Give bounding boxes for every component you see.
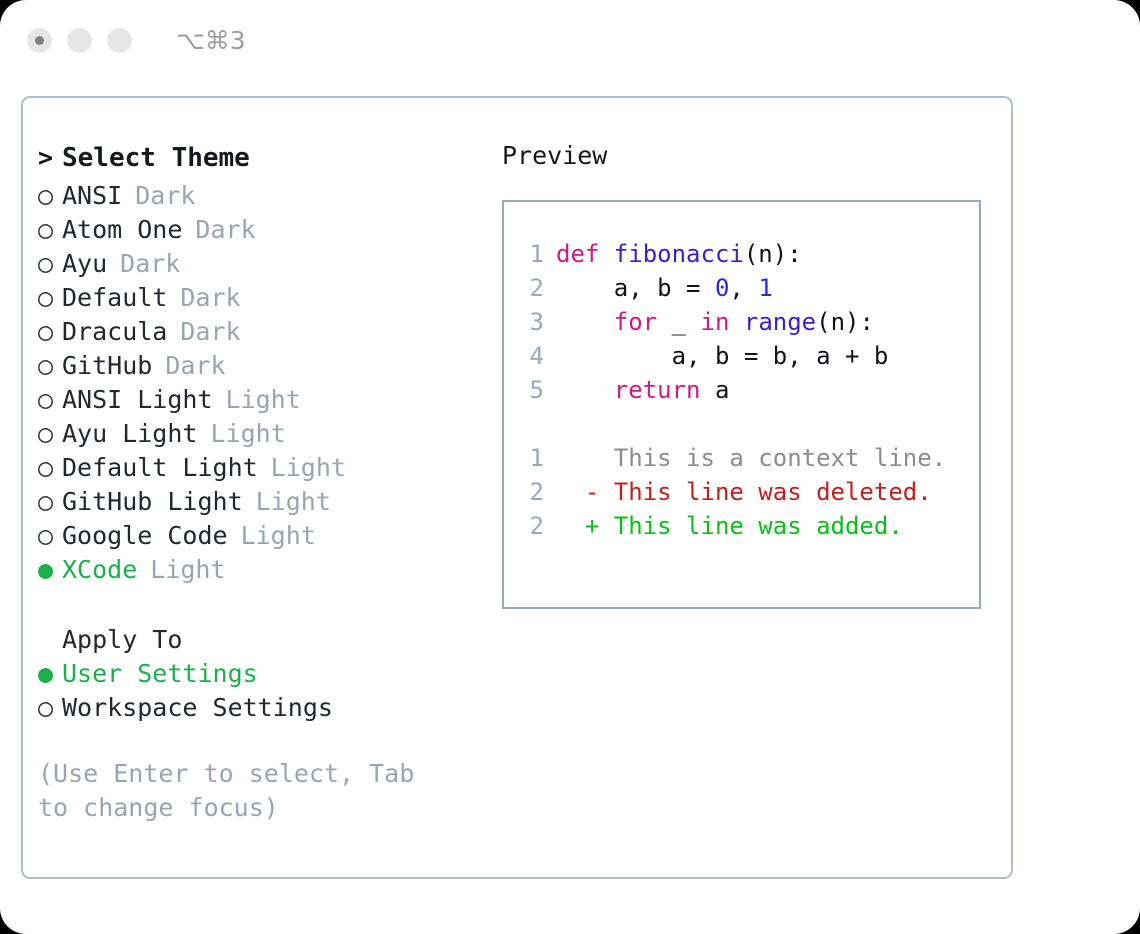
diff-line-number: 2 [518, 478, 544, 506]
code-line-content: for _ in range(n): [556, 308, 874, 336]
diff-line: 2 + This line was added. [518, 512, 979, 546]
app-window: ⌥⌘3 > Select Theme ○ANSIDark○Atom OneDar… [0, 0, 1140, 934]
code-line-number: 1 [518, 240, 544, 268]
preview-title: Preview [502, 141, 992, 179]
code-token-txt: a, b = [556, 274, 715, 302]
code-token-fn: range [744, 308, 816, 336]
radio-unselected-icon[interactable]: ○ [38, 485, 62, 519]
diff-line: 1 This is a context line. [518, 444, 979, 478]
code-line-content: a, b = b, a + b [556, 342, 888, 370]
theme-name-label: GitHub [62, 351, 152, 380]
code-token-txt: a, b = b, a + b [556, 342, 888, 370]
window-dot-2[interactable] [67, 28, 92, 53]
apply-to-heading: Apply To [38, 623, 478, 657]
radio-unselected-icon[interactable]: ○ [38, 281, 62, 315]
apply-to-item[interactable]: ○Workspace Settings [38, 691, 478, 725]
preview-box: 1def fibonacci(n):2 a, b = 0, 13 for _ i… [502, 200, 981, 609]
theme-name-label: Ayu [62, 249, 107, 278]
active-indicator-dot [35, 36, 44, 45]
code-line: 4 a, b = b, a + b [518, 342, 979, 376]
apply-to-section: Apply To ●User Settings○Workspace Settin… [38, 623, 478, 725]
code-line-content: return a [556, 376, 729, 404]
select-theme-heading-label: Select Theme [62, 143, 250, 173]
diff-line-text: This line was deleted. [614, 478, 932, 506]
apply-to-label: Workspace Settings [62, 693, 333, 722]
apply-to-item[interactable]: ●User Settings [38, 657, 478, 691]
main-panel: > Select Theme ○ANSIDark○Atom OneDark○Ay… [21, 96, 1013, 879]
code-line: 3 for _ in range(n): [518, 308, 979, 342]
code-token-txt [556, 376, 614, 404]
code-line-number: 4 [518, 342, 544, 370]
code-line-content: a, b = 0, 1 [556, 274, 773, 302]
radio-unselected-icon[interactable]: ○ [38, 691, 62, 725]
diff-marker-del: - [556, 478, 614, 506]
radio-unselected-icon[interactable]: ○ [38, 247, 62, 281]
theme-variant-badge: Light [256, 487, 331, 516]
theme-list-item[interactable]: ○GitHubDark [38, 349, 478, 383]
theme-variant-badge: Light [226, 385, 301, 414]
theme-name-label: Default [62, 283, 167, 312]
code-token-txt: (n): [816, 308, 874, 336]
radio-unselected-icon[interactable]: ○ [38, 213, 62, 247]
theme-name-label: Atom One [62, 215, 182, 244]
code-line: 2 a, b = 0, 1 [518, 274, 979, 308]
code-token-txt: a [701, 376, 730, 404]
code-token-txt: _ [657, 308, 700, 336]
theme-list-item[interactable]: ○ANSIDark [38, 179, 478, 213]
theme-list-item[interactable]: ●XCodeLight [38, 553, 478, 587]
theme-variant-badge: Dark [165, 351, 225, 380]
window-dot-active[interactable] [27, 28, 52, 53]
theme-list-item[interactable]: ○DraculaDark [38, 315, 478, 349]
code-line-number: 5 [518, 376, 544, 404]
keyboard-shortcut-label: ⌥⌘3 [176, 26, 246, 55]
theme-variant-badge: Light [210, 419, 285, 448]
theme-list-item[interactable]: ○Ayu LightLight [38, 417, 478, 451]
diff-line-number: 1 [518, 444, 544, 472]
code-token-txt [729, 308, 743, 336]
preview-spacer [518, 410, 979, 444]
apply-to-heading-label: Apply To [62, 625, 182, 654]
diff-line-text: This line was added. [614, 512, 903, 540]
theme-list-item[interactable]: ○Google CodeLight [38, 519, 478, 553]
theme-list: ○ANSIDark○Atom OneDark○AyuDark○DefaultDa… [38, 179, 478, 587]
preview-column: Preview 1def fibonacci(n):2 a, b = 0, 13… [502, 141, 992, 609]
code-token-txt [556, 308, 614, 336]
radio-unselected-icon[interactable]: ○ [38, 383, 62, 417]
code-line-content: def fibonacci(n): [556, 240, 802, 268]
diff-marker-ctx [556, 444, 614, 472]
theme-variant-badge: Dark [135, 181, 195, 210]
apply-to-list: ●User Settings○Workspace Settings [38, 657, 478, 725]
code-token-kw: in [701, 308, 730, 336]
select-theme-heading: > Select Theme [38, 141, 478, 179]
diff-line-number: 2 [518, 512, 544, 540]
title-bar: ⌥⌘3 [0, 0, 1140, 80]
radio-selected-icon[interactable]: ● [38, 553, 62, 587]
code-token-num: 0 [715, 274, 729, 302]
cursor-marker-icon: > [38, 141, 62, 175]
code-sample: 1def fibonacci(n):2 a, b = 0, 13 for _ i… [518, 240, 979, 410]
theme-list-item[interactable]: ○GitHub LightLight [38, 485, 478, 519]
theme-name-label: XCode [62, 555, 137, 584]
theme-list-item[interactable]: ○DefaultDark [38, 281, 478, 315]
theme-name-label: Ayu Light [62, 419, 197, 448]
theme-name-label: Default Light [62, 453, 258, 482]
code-token-kw: def [556, 240, 614, 268]
code-token-kw: return [614, 376, 701, 404]
theme-variant-badge: Light [271, 453, 346, 482]
code-line: 5 return a [518, 376, 979, 410]
code-line-number: 2 [518, 274, 544, 302]
theme-variant-badge: Light [150, 555, 225, 584]
theme-selector-column: > Select Theme ○ANSIDark○Atom OneDark○Ay… [38, 141, 478, 825]
theme-name-label: GitHub Light [62, 487, 243, 516]
apply-to-label: User Settings [62, 659, 258, 688]
code-token-fn: fibonacci [614, 240, 744, 268]
theme-list-item[interactable]: ○AyuDark [38, 247, 478, 281]
theme-list-item[interactable]: ○ANSI LightLight [38, 383, 478, 417]
radio-unselected-icon[interactable]: ○ [38, 349, 62, 383]
theme-list-item[interactable]: ○Atom OneDark [38, 213, 478, 247]
keyboard-hint-text: (Use Enter to select, Tab to change focu… [38, 757, 448, 825]
theme-name-label: ANSI [62, 181, 122, 210]
code-token-txt: , [729, 274, 758, 302]
code-line-number: 3 [518, 308, 544, 336]
window-dot-3[interactable] [107, 28, 132, 53]
radio-unselected-icon[interactable]: ○ [38, 451, 62, 485]
radio-unselected-icon[interactable]: ○ [38, 519, 62, 553]
theme-variant-badge: Dark [120, 249, 180, 278]
code-token-txt: (n): [744, 240, 802, 268]
diff-marker-add: + [556, 512, 614, 540]
theme-name-label: ANSI Light [62, 385, 213, 414]
theme-variant-badge: Dark [180, 283, 240, 312]
diff-line: 2 - This line was deleted. [518, 478, 979, 512]
radio-unselected-icon[interactable]: ○ [38, 417, 62, 451]
radio-unselected-icon[interactable]: ○ [38, 315, 62, 349]
code-token-kw: for [614, 308, 657, 336]
theme-variant-badge: Light [241, 521, 316, 550]
radio-unselected-icon[interactable]: ○ [38, 179, 62, 213]
theme-variant-badge: Dark [180, 317, 240, 346]
theme-name-label: Dracula [62, 317, 167, 346]
apply-to-spacer [38, 623, 62, 657]
radio-selected-icon[interactable]: ● [38, 657, 62, 691]
theme-variant-badge: Dark [195, 215, 255, 244]
theme-name-label: Google Code [62, 521, 228, 550]
diff-line-text: This is a context line. [614, 444, 946, 472]
code-token-num: 1 [758, 274, 772, 302]
theme-list-item[interactable]: ○Default LightLight [38, 451, 478, 485]
diff-sample: 1 This is a context line.2 - This line w… [518, 444, 979, 546]
code-line: 1def fibonacci(n): [518, 240, 979, 274]
